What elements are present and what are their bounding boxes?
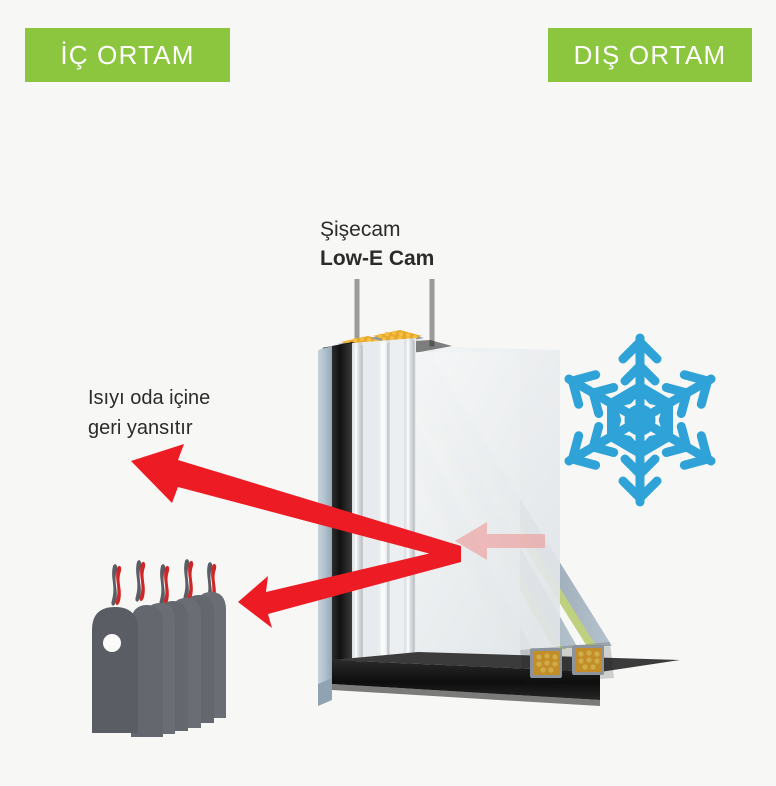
- radiator-fins: [131, 592, 226, 737]
- product-label-line1: Şişecam: [320, 215, 560, 244]
- outdoor-badge-label: DIŞ ORTAM: [574, 42, 727, 68]
- reflection-label-line1: Isıyı oda içine: [88, 383, 318, 413]
- cavity-one: [364, 341, 378, 668]
- reflection-label: Isıyı oda içine geri yansıtır: [88, 383, 318, 443]
- cavity-two: [390, 339, 404, 664]
- reflection-label-line2: geri yansıtır: [88, 413, 318, 443]
- radiator-icon: [92, 559, 226, 737]
- indoor-badge[interactable]: İÇ ORTAM: [25, 28, 230, 82]
- snowflake-icon: [560, 338, 719, 502]
- radiator-front-fin: [92, 607, 138, 733]
- product-label-line2: Low-E Cam: [320, 244, 560, 273]
- radiator-knob: [103, 634, 121, 652]
- indoor-badge-label: İÇ ORTAM: [60, 42, 194, 68]
- diagram-canvas: İÇ ORTAM DIŞ ORTAM Şişecam Low-E Cam Isı…: [0, 0, 776, 786]
- outdoor-badge[interactable]: DIŞ ORTAM: [548, 28, 752, 82]
- glazing-unit: [318, 279, 680, 706]
- product-label: Şişecam Low-E Cam: [320, 215, 560, 273]
